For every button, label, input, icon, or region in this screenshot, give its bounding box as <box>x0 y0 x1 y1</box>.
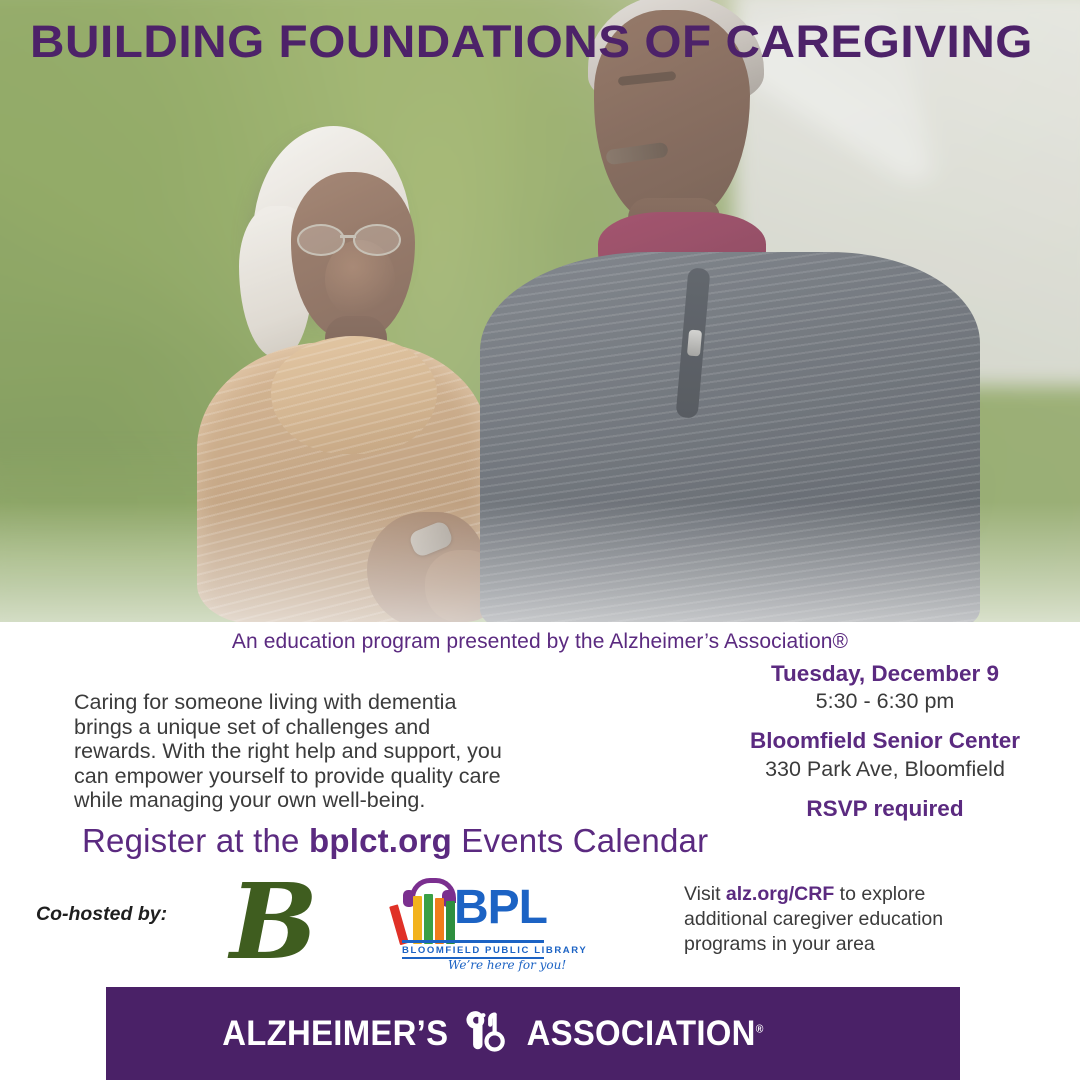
body-paragraph: Caring for someone living with dementia … <box>74 690 514 813</box>
bpl-wordmark: BPL <box>454 884 547 932</box>
book-yellow <box>413 896 422 944</box>
event-venue: Bloomfield Senior Center <box>690 727 1080 755</box>
rsvp-notice: RSVP required <box>690 795 1080 823</box>
woman-cowl-collar <box>271 336 437 454</box>
event-address: 330 Park Ave, Bloomfield <box>690 756 1080 783</box>
books-icon <box>400 892 456 944</box>
woman-eyeglasses <box>297 224 411 254</box>
footer-banner: ALZHEIMER’S ASSOCI <box>106 987 960 1080</box>
figure-woman <box>175 120 505 622</box>
monogram-letter: B <box>214 876 334 968</box>
eyeglass-lens-left <box>297 224 345 256</box>
sweater-rib-texture <box>480 252 980 622</box>
bloomfield-monogram-logo: B <box>214 876 334 968</box>
event-time: 5:30 - 6:30 pm <box>690 688 1080 715</box>
eyeglass-lens-right <box>353 224 401 256</box>
visit-prefix: Visit <box>684 883 726 905</box>
bpl-tagline: We’re here for you! <box>448 958 544 972</box>
event-details: Tuesday, December 9 5:30 - 6:30 pm Bloom… <box>690 660 1080 823</box>
program-tagline: An education program presented by the Al… <box>0 630 1080 654</box>
bloomfield-public-library-logo: BPL BLOOMFIELD PUBLIC LIBRARY We’re here… <box>396 876 546 972</box>
book-green <box>424 894 433 944</box>
man-sweater <box>480 252 980 622</box>
visit-note[interactable]: Visit alz.org/CRF to explore additional … <box>684 882 984 957</box>
bpl-subtitle: BLOOMFIELD PUBLIC LIBRARY <box>402 945 544 956</box>
alzheimers-brain-mark-icon <box>464 1008 510 1059</box>
register-prefix: Register at the <box>82 822 309 859</box>
footer-word-association: ASSOCIATION® <box>527 1014 764 1054</box>
cohost-label: Co-hosted by: <box>36 903 167 926</box>
alzheimers-association-logo: ALZHEIMER’S ASSOCI <box>215 1008 772 1059</box>
flyer-canvas: BUILDING FOUNDATIONS OF CAREGIVING An ed… <box>0 0 1080 1080</box>
footer-association-text: ASSOCIATION <box>527 1014 756 1053</box>
event-date: Tuesday, December 9 <box>690 660 1080 688</box>
visit-url[interactable]: alz.org/CRF <box>726 883 834 905</box>
hero-photo <box>0 0 1080 622</box>
sweater-zipper-pull <box>687 329 702 356</box>
cowl-rib-texture <box>271 336 437 454</box>
page-title: BUILDING FOUNDATIONS OF CAREGIVING <box>30 18 1080 65</box>
figure-man <box>470 0 990 622</box>
photo-scene <box>0 0 1080 622</box>
register-suffix: Events Calendar <box>452 822 708 859</box>
book-orange <box>435 898 444 944</box>
register-call-to-action[interactable]: Register at the bplct.org Events Calenda… <box>82 822 708 860</box>
register-website[interactable]: bplct.org <box>309 822 452 859</box>
bpl-rule-top <box>402 940 544 943</box>
registered-trademark-symbol: ® <box>756 1023 764 1035</box>
footer-word-alzheimers: ALZHEIMER’S <box>222 1014 448 1054</box>
